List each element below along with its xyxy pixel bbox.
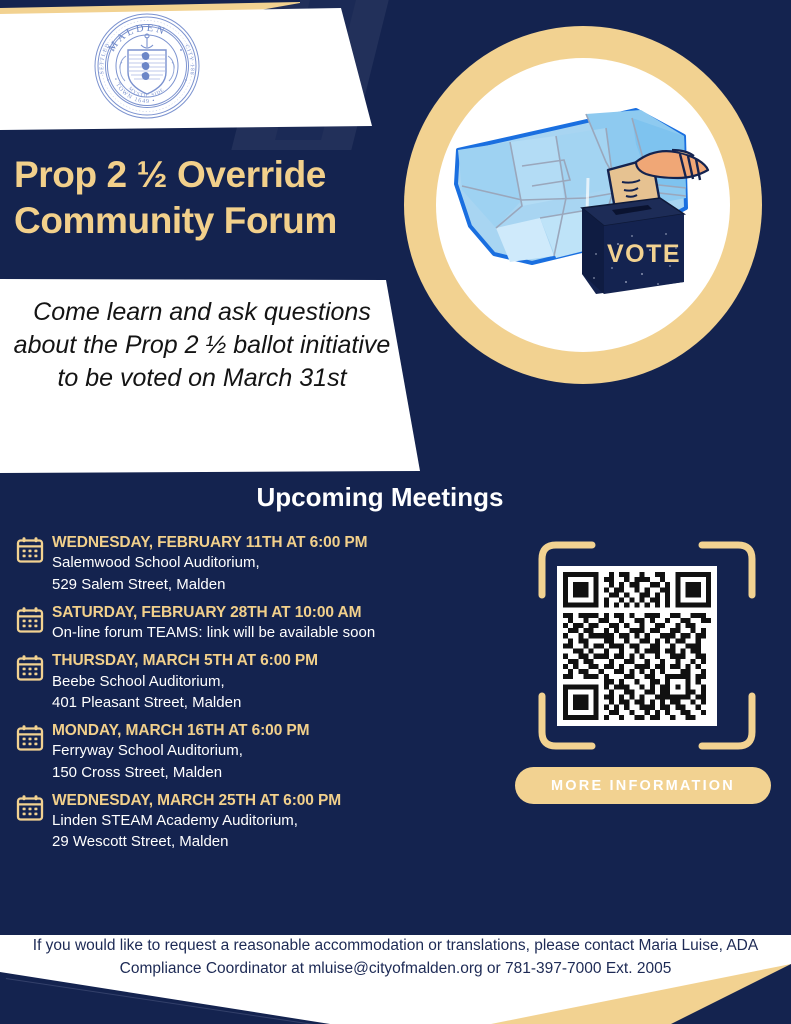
meeting-details: WEDNESDAY, MARCH 25TH AT 6:00 PM Linden … <box>52 792 516 853</box>
meeting-location-line1: Linden STEAM Academy Auditorium, <box>52 811 516 831</box>
meetings-heading: Upcoming Meetings <box>160 482 600 513</box>
calendar-icon <box>16 654 44 682</box>
subtitle-text: Come learn and ask questions about the P… <box>8 296 396 395</box>
poster-root: MALDEN • TOWN 1649 • SETTLED 1640 CITY 1… <box>0 0 791 1024</box>
meeting-location-line2: 529 Salem Street, Malden <box>52 575 516 595</box>
illustration-ring: VOTE <box>404 26 762 384</box>
meeting-location-line2: 401 Pleasant Street, Malden <box>52 693 516 713</box>
malden-city-seal: MALDEN • TOWN 1649 • SETTLED 1640 CITY 1… <box>88 10 206 122</box>
vote-ballot-map-illustration: VOTE <box>436 58 730 352</box>
list-item: MONDAY, MARCH 16TH AT 6:00 PM Ferryway S… <box>16 722 516 783</box>
list-item: THURSDAY, MARCH 5TH AT 6:00 PM Beebe Sch… <box>16 652 516 713</box>
ballot-box-label: VOTE <box>607 240 681 268</box>
meeting-datetime: WEDNESDAY, MARCH 25TH AT 6:00 PM <box>52 792 516 810</box>
meeting-location-line2: 150 Cross Street, Malden <box>52 763 516 783</box>
title-line-1: Prop 2 ½ Override <box>14 152 394 198</box>
calendar-icon <box>16 606 44 634</box>
calendar-icon <box>16 794 44 822</box>
list-item: WEDNESDAY, FEBRUARY 11TH AT 6:00 PM Sale… <box>16 534 516 595</box>
meeting-datetime: SATURDAY, FEBRUARY 28TH AT 10:00 AM <box>52 604 516 622</box>
meeting-datetime: WEDNESDAY, FEBRUARY 11TH AT 6:00 PM <box>52 534 516 552</box>
calendar-icon <box>16 724 44 752</box>
meeting-location-line1: On-line forum TEAMS: link will be availa… <box>52 623 516 643</box>
meeting-datetime: MONDAY, MARCH 16TH AT 6:00 PM <box>52 722 516 740</box>
calendar-icon <box>16 536 44 564</box>
meeting-datetime: THURSDAY, MARCH 5TH AT 6:00 PM <box>52 652 516 670</box>
meeting-location-line1: Ferryway School Auditorium, <box>52 741 516 761</box>
accessibility-contact-text: If you would like to request a reasonabl… <box>24 935 767 980</box>
meeting-details: SATURDAY, FEBRUARY 28TH AT 10:00 AM On-l… <box>52 604 516 644</box>
meeting-details: MONDAY, MARCH 16TH AT 6:00 PM Ferryway S… <box>52 722 516 783</box>
meeting-location-line1: Salemwood School Auditorium, <box>52 553 516 573</box>
navy-strip-top-left <box>0 0 300 10</box>
qr-section: MORE INFORMATION <box>515 533 777 803</box>
meeting-details: THURSDAY, MARCH 5TH AT 6:00 PM Beebe Sch… <box>52 652 516 713</box>
meetings-list: WEDNESDAY, FEBRUARY 11TH AT 6:00 PM Sale… <box>16 534 516 862</box>
more-information-button[interactable]: MORE INFORMATION <box>515 767 771 804</box>
page-title: Prop 2 ½ Override Community Forum <box>14 152 394 244</box>
meeting-details: WEDNESDAY, FEBRUARY 11TH AT 6:00 PM Sale… <box>52 534 516 595</box>
list-item: SATURDAY, FEBRUARY 28TH AT 10:00 AM On-l… <box>16 604 516 644</box>
title-line-2: Community Forum <box>14 198 394 244</box>
meeting-location-line2: 29 Wescott Street, Malden <box>52 832 516 852</box>
list-item: WEDNESDAY, MARCH 25TH AT 6:00 PM Linden … <box>16 792 516 853</box>
qr-code[interactable] <box>557 566 717 726</box>
meeting-location-line1: Beebe School Auditorium, <box>52 672 516 692</box>
